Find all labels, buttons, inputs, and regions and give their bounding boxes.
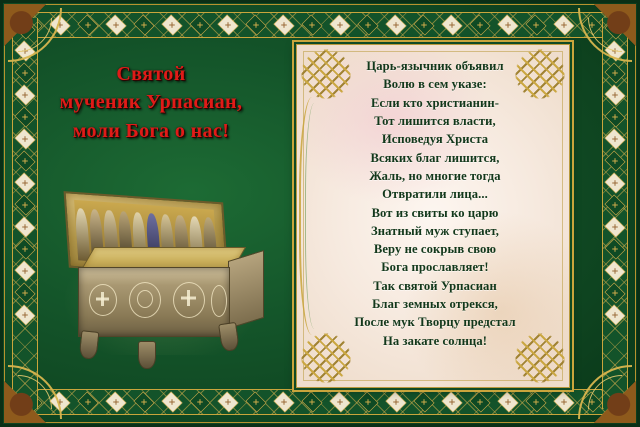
lozenge-icon	[497, 391, 518, 412]
lozenge-icon	[385, 391, 406, 412]
lozenge-icon	[217, 14, 238, 35]
lozenge-icon	[329, 14, 350, 35]
lozenge-icon	[604, 238, 625, 259]
lozenge-icon	[14, 260, 35, 281]
lozenge-icon	[77, 391, 98, 412]
lozenge-icon	[525, 14, 546, 35]
lozenge-icon	[14, 216, 35, 237]
ornament-band-top	[18, 12, 622, 38]
lozenge-icon	[497, 14, 518, 35]
quatrefoil-ornament-icon	[211, 285, 227, 317]
lozenge-icon	[189, 14, 210, 35]
lozenge-icon	[604, 304, 625, 325]
title-line: мученик Урпасиан,	[26, 88, 276, 116]
poem-panel: Царь-язычник объявил Волю в сем указе: Е…	[296, 44, 570, 388]
lozenge-icon	[525, 391, 546, 412]
lozenge-icon	[413, 14, 434, 35]
lozenge-icon	[301, 14, 322, 35]
lozenge-icon	[604, 150, 625, 171]
casket-side-panel	[228, 250, 264, 329]
poem-line: После мук Творцу предстал	[311, 313, 559, 331]
lozenge-icon	[385, 14, 406, 35]
casket-foot	[79, 330, 100, 360]
ornament-band-right	[602, 18, 628, 409]
poem-line: Отвратили лица...	[311, 185, 559, 203]
lozenge-icon	[14, 172, 35, 193]
lozenge-icon	[189, 391, 210, 412]
page-title: Святой мученик Урпасиан, моли Бога о нас…	[26, 60, 276, 145]
lozenge-icon	[14, 304, 35, 325]
lozenge-icon	[105, 14, 126, 35]
title-line: Святой	[26, 60, 276, 88]
lozenge-icon	[273, 14, 294, 35]
cross-icon	[181, 290, 196, 306]
poem-text: Царь-язычник объявил Волю в сем указе: Е…	[311, 57, 559, 350]
poem-line: Жаль, но многие тогда	[311, 167, 559, 185]
lozenge-icon	[133, 391, 154, 412]
poem-line: Тот лишится власти,	[311, 112, 559, 130]
lozenge-icon	[604, 216, 625, 237]
lozenge-icon	[553, 14, 574, 35]
saint-figure-icon	[75, 208, 91, 261]
lozenge-icon	[469, 14, 490, 35]
poem-line: Если кто христианин-	[311, 94, 559, 112]
motif-row-top	[18, 13, 622, 37]
poem-line: Исповедуя Христа	[311, 130, 559, 148]
lozenge-icon	[357, 14, 378, 35]
lozenge-icon	[357, 391, 378, 412]
lozenge-icon	[14, 150, 35, 171]
poem-line: Волю в сем указе:	[311, 75, 559, 93]
poem-line: Всяких благ лишится,	[311, 149, 559, 167]
lozenge-icon	[604, 282, 625, 303]
lozenge-icon	[161, 14, 182, 35]
lozenge-icon	[133, 14, 154, 35]
lozenge-icon	[604, 128, 625, 149]
lozenge-icon	[77, 14, 98, 35]
lozenge-icon	[469, 391, 490, 412]
cross-icon	[96, 292, 109, 306]
poem-line: Веру не сокрыв свою	[311, 240, 559, 258]
poem-line: Бога прославляет!	[311, 258, 559, 276]
lozenge-icon	[441, 391, 462, 412]
lozenge-icon	[441, 14, 462, 35]
corner-ornament-icon	[574, 361, 636, 423]
lozenge-icon	[604, 84, 625, 105]
title-line: моли Бога о нас!	[26, 117, 276, 145]
lozenge-icon	[105, 391, 126, 412]
lozenge-icon	[301, 391, 322, 412]
lozenge-icon	[217, 391, 238, 412]
poem-line: Царь-язычник объявил	[311, 57, 559, 75]
lozenge-icon	[161, 391, 182, 412]
reliquary-casket-image	[52, 195, 267, 375]
lozenge-icon	[14, 282, 35, 303]
motif-row-bottom	[18, 390, 622, 414]
lozenge-icon	[604, 194, 625, 215]
icon-card: Святой мученик Урпасиан, моли Бога о нас…	[0, 0, 640, 427]
ornament-band-bottom	[18, 389, 622, 415]
lozenge-icon	[245, 391, 266, 412]
poem-line: Знатный муж ступает,	[311, 222, 559, 240]
lozenge-icon	[553, 391, 574, 412]
lozenge-icon	[604, 172, 625, 193]
lozenge-icon	[245, 14, 266, 35]
poem-line: На закате солнца!	[311, 332, 559, 350]
poem-line: Вот из свиты ко царю	[311, 204, 559, 222]
casket-front-panel	[78, 267, 230, 337]
lozenge-icon	[413, 391, 434, 412]
poem-line: Так святой Урпасиан	[311, 277, 559, 295]
lozenge-icon	[273, 391, 294, 412]
corner-ornament-icon	[4, 4, 66, 66]
lozenge-icon	[14, 194, 35, 215]
poem-line: Благ земных отрекся,	[311, 295, 559, 313]
casket-foot	[138, 341, 156, 369]
lozenge-icon	[604, 106, 625, 127]
quatrefoil-inner-icon	[137, 290, 153, 308]
lozenge-icon	[14, 238, 35, 259]
motif-col-right	[603, 18, 627, 409]
lozenge-icon	[604, 260, 625, 281]
lozenge-icon	[329, 391, 350, 412]
corner-ornament-icon	[574, 4, 636, 66]
